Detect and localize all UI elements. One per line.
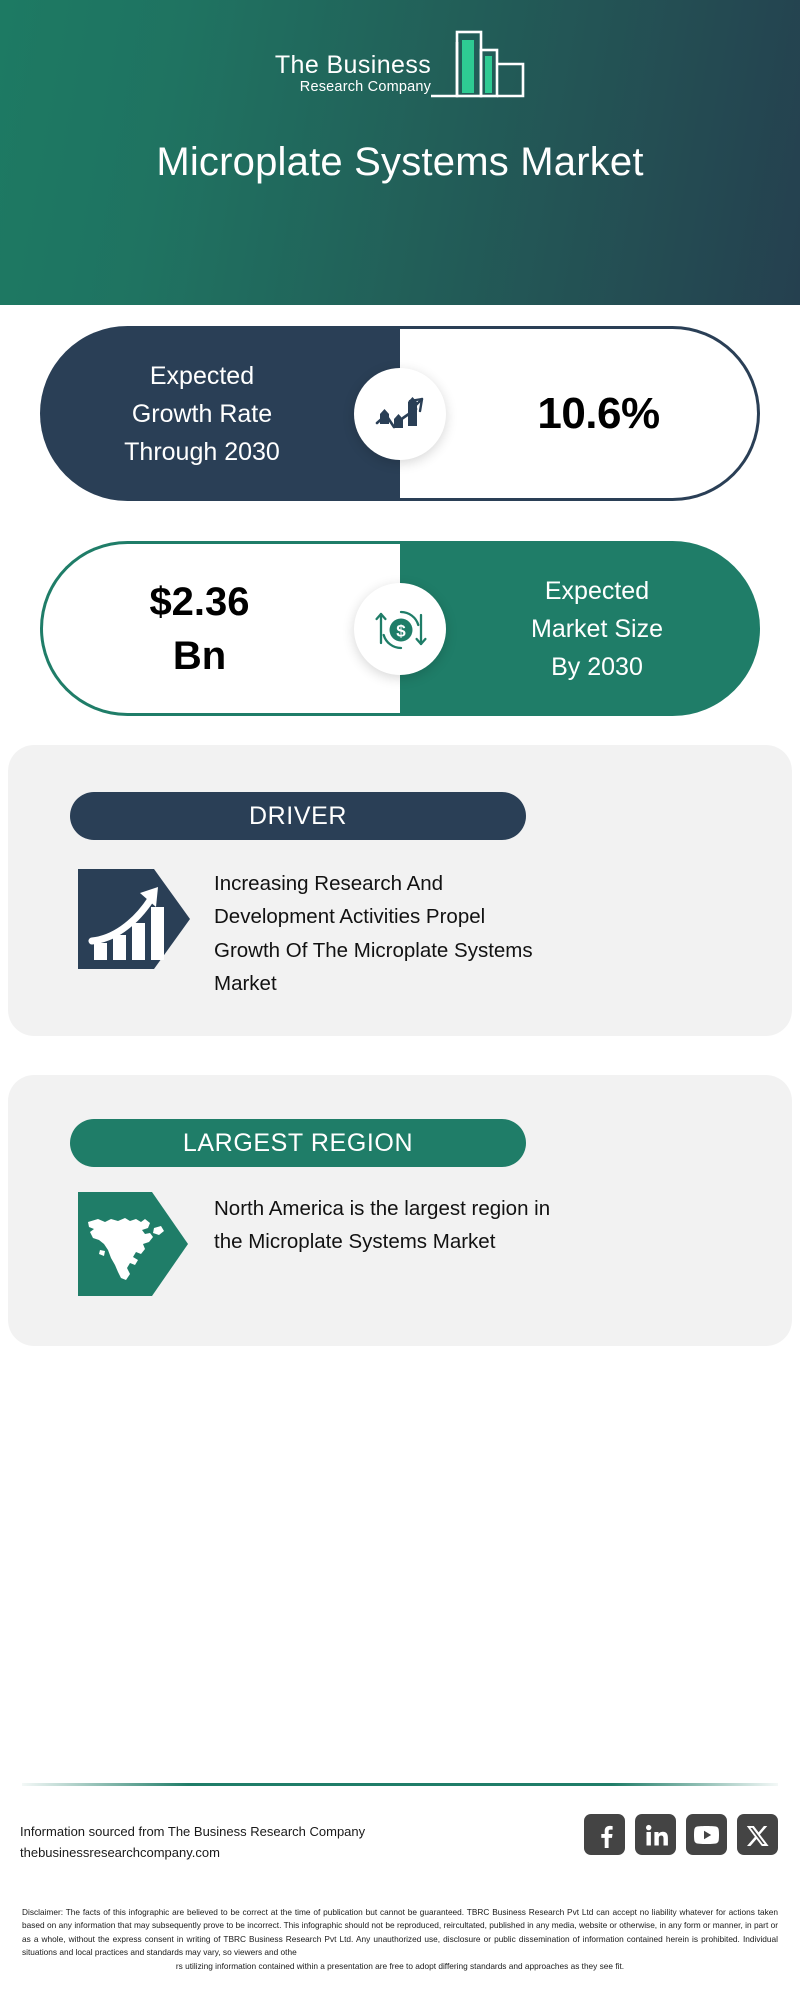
social-links [584, 1814, 778, 1855]
stat-card-value-panel: $2.36 Bn [40, 541, 400, 716]
stat-label-line-3: Through 2030 [124, 438, 280, 466]
footer-source: Information sourced from The Business Re… [20, 1821, 365, 1863]
stat-value-line-1: $2.36 [149, 580, 249, 624]
footer-divider [22, 1783, 778, 1786]
logo-wordmark: The Business Research Company [275, 53, 431, 102]
north-america-map-pentagon-icon [78, 1188, 190, 1300]
stat-label-line-1: Expected [150, 362, 254, 390]
stat-card-value: 10.6% [497, 389, 659, 439]
header-banner: The Business Research Company Microplate… [0, 0, 800, 305]
bar-chart-logo-mark-icon [429, 24, 525, 102]
driver-panel: DRIVER Increasing Research And Developme… [8, 745, 792, 1036]
growth-bar-chart-arrow-icon [354, 368, 446, 460]
linkedin-icon[interactable] [635, 1814, 676, 1855]
logo-line-2: Research Company [275, 78, 431, 98]
stat-label-line-2: Market Size [531, 615, 663, 643]
stat-value-line-2: Bn [173, 634, 226, 678]
disclaimer-main: Disclaimer: The facts of this infographi… [22, 1907, 778, 1957]
largest-region-panel: LARGEST REGION North America is the larg… [8, 1075, 792, 1346]
infographic-page: The Business Research Company Microplate… [0, 0, 800, 2000]
stat-card-market-size: $2.36 Bn Expected Market Size By 2030 $ [40, 541, 760, 716]
company-logo: The Business Research Company [0, 24, 800, 102]
largest-region-text: North America is the largest region in t… [214, 1188, 554, 1259]
driver-heading-pill: DRIVER [70, 792, 526, 840]
footer-source-line-1: Information sourced from The Business Re… [20, 1821, 365, 1842]
stat-label-line-1: Expected [545, 577, 649, 605]
page-title: Microplate Systems Market [0, 140, 800, 185]
largest-region-heading-pill: LARGEST REGION [70, 1119, 526, 1167]
youtube-icon[interactable] [686, 1814, 727, 1855]
largest-region-body: North America is the largest region in t… [78, 1188, 554, 1300]
stat-label-line-2: Growth Rate [132, 400, 272, 428]
disclaimer-last-line: rs utilizing information contained withi… [22, 1960, 778, 1973]
stat-card-label-panel: Expected Market Size By 2030 [400, 541, 760, 716]
stat-card-value: $2.36 Bn [149, 575, 293, 683]
stat-card-label-panel: Expected Growth Rate Through 2030 [40, 326, 400, 501]
stat-label-line-3: By 2030 [551, 653, 643, 681]
stat-card-value-panel: 10.6% [400, 326, 760, 501]
x-twitter-icon[interactable] [737, 1814, 778, 1855]
logo-line-1: The Business [275, 53, 431, 78]
stat-card-label: Expected Market Size By 2030 [497, 572, 663, 686]
driver-body: Increasing Research And Development Acti… [78, 863, 554, 1001]
growth-chart-arrow-pentagon-icon [78, 863, 190, 975]
stat-card-growth-rate: Expected Growth Rate Through 2030 10.6% [40, 326, 760, 501]
dollar-circular-arrows-icon: $ [354, 583, 446, 675]
driver-text: Increasing Research And Development Acti… [214, 863, 554, 1001]
footer-source-url[interactable]: thebusinessresearchcompany.com [20, 1842, 365, 1863]
svg-text:$: $ [396, 621, 406, 640]
stat-card-label: Expected Growth Rate Through 2030 [124, 357, 316, 471]
disclaimer-text: Disclaimer: The facts of this infographi… [22, 1906, 778, 1973]
facebook-icon[interactable] [584, 1814, 625, 1855]
